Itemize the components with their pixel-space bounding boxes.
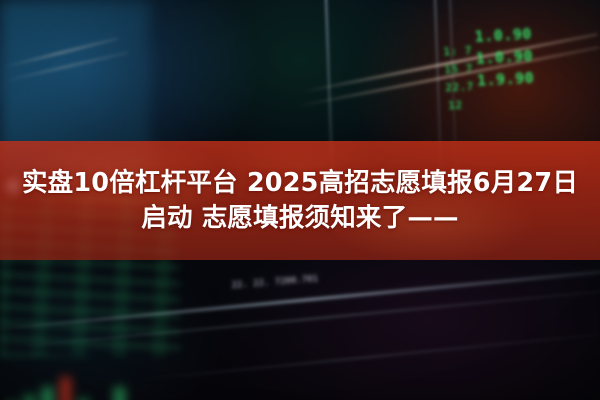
stock-market-background-image: 2.5.40 2.5.60 4.0.60 4.1.80 2.1.80 2.1 2…	[0, 0, 600, 400]
color-light-bars	[0, 357, 150, 400]
top-quote-left-4: 12	[448, 99, 463, 113]
top-quote-green-1: 1.0.90	[474, 25, 532, 46]
top-right-quotes: 1: 7 15 7 22.7 12 1.0.90 1.0.90 1.9.90	[442, 17, 576, 104]
mid-ticker-line: 22. 22. 7200.701	[231, 274, 318, 291]
headline-line-2: 启动 志愿填报须知来了——	[141, 204, 458, 233]
headline-line-1: 实盘10倍杠杆平台 2025高招志愿填报6月27日	[22, 169, 578, 198]
headline-text-block: 实盘10倍杠杆平台 2025高招志愿填报6月27日 启动 志愿填报须知来了——	[0, 141, 600, 260]
top-quote-left-3: 22.7	[445, 80, 474, 94]
glass-reflection-streak-3	[121, 332, 600, 383]
top-quote-green-2: 1.0.90	[475, 47, 533, 68]
top-quote-left-1: 1: 7	[443, 44, 472, 58]
top-quote-green-3: 1.9.90	[477, 69, 535, 90]
top-quote-left-2: 15 7	[444, 62, 473, 76]
